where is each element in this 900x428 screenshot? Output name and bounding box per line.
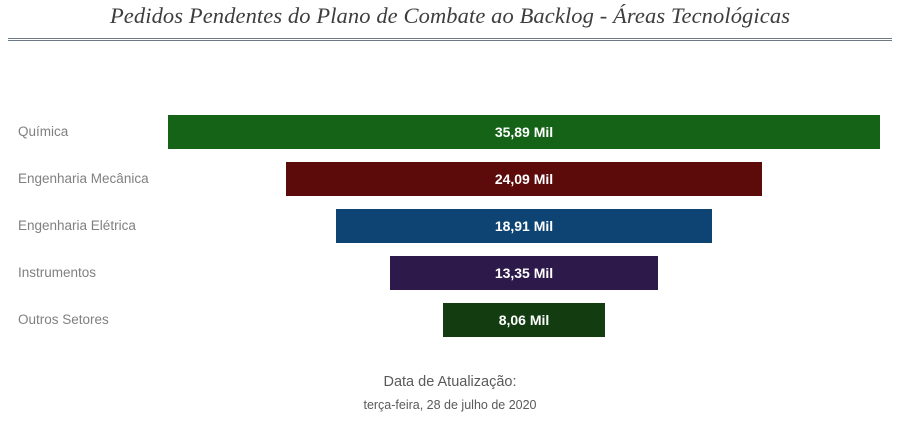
category-label: Instrumentos bbox=[18, 249, 96, 296]
bar-segment[interactable]: 35,89 Mil bbox=[168, 115, 880, 149]
title-divider bbox=[8, 38, 892, 41]
update-date-value: terça-feira, 28 de julho de 2020 bbox=[0, 395, 900, 415]
bar-row: Instrumentos13,35 Mil bbox=[0, 249, 900, 296]
bar-segment[interactable]: 18,91 Mil bbox=[336, 209, 712, 243]
bar-value-label: 18,91 Mil bbox=[336, 209, 712, 243]
footer-block: Data de Atualização: terça-feira, 28 de … bbox=[0, 372, 900, 415]
bar-row: Química35,89 Mil bbox=[0, 108, 900, 155]
bar-segment[interactable]: 8,06 Mil bbox=[443, 303, 605, 337]
category-label: Outros Setores bbox=[18, 296, 109, 343]
update-date-label: Data de Atualização: bbox=[0, 372, 900, 392]
bar-row: Engenharia Elétrica18,91 Mil bbox=[0, 202, 900, 249]
bar-segment[interactable]: 24,09 Mil bbox=[286, 162, 762, 196]
category-label: Química bbox=[18, 108, 68, 155]
bar-value-label: 35,89 Mil bbox=[168, 115, 880, 149]
bar-value-label: 24,09 Mil bbox=[286, 162, 762, 196]
page-title: Pedidos Pendentes do Plano de Combate ao… bbox=[0, 3, 900, 29]
category-label: Engenharia Mecânica bbox=[18, 155, 149, 202]
category-label: Engenharia Elétrica bbox=[18, 202, 136, 249]
funnel-chart-plot-area: Química35,89 MilEngenharia Mecânica24,09… bbox=[0, 108, 900, 358]
bar-value-label: 8,06 Mil bbox=[443, 303, 605, 337]
bar-segment[interactable]: 13,35 Mil bbox=[390, 256, 658, 290]
bar-row: Engenharia Mecânica24,09 Mil bbox=[0, 155, 900, 202]
bar-row: Outros Setores8,06 Mil bbox=[0, 296, 900, 343]
bar-value-label: 13,35 Mil bbox=[390, 256, 658, 290]
title-block: Pedidos Pendentes do Plano de Combate ao… bbox=[0, 0, 900, 46]
